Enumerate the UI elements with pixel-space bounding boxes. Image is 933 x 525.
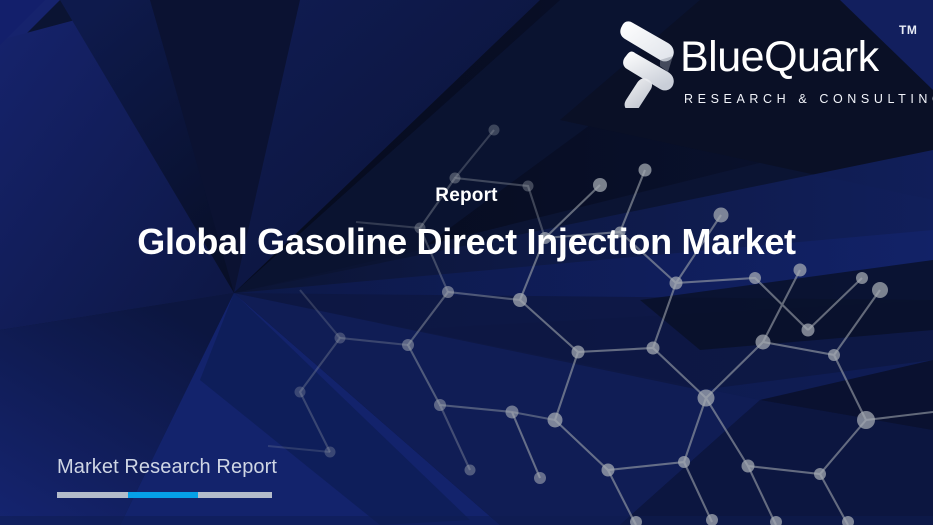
double-chevron-logo-icon <box>616 18 688 108</box>
brand-wordmark: BlueQuark <box>680 36 879 79</box>
rule-segment-right <box>198 492 272 498</box>
brand-logo: BlueQuark RESEARCH & CONSULTING TM <box>616 14 916 108</box>
rule-segment-accent <box>128 492 198 498</box>
footer-accent-rule <box>57 492 272 498</box>
trademark-icon: TM <box>899 24 917 36</box>
report-kicker: Report <box>0 186 933 205</box>
footer-label: Market Research Report <box>57 457 277 477</box>
rule-segment-left <box>57 492 128 498</box>
brand-tagline: RESEARCH & CONSULTING <box>684 93 933 106</box>
report-cover-page: BlueQuark RESEARCH & CONSULTING TM Repor… <box>0 0 933 525</box>
page-title: Global Gasoline Direct Injection Market <box>0 220 933 263</box>
